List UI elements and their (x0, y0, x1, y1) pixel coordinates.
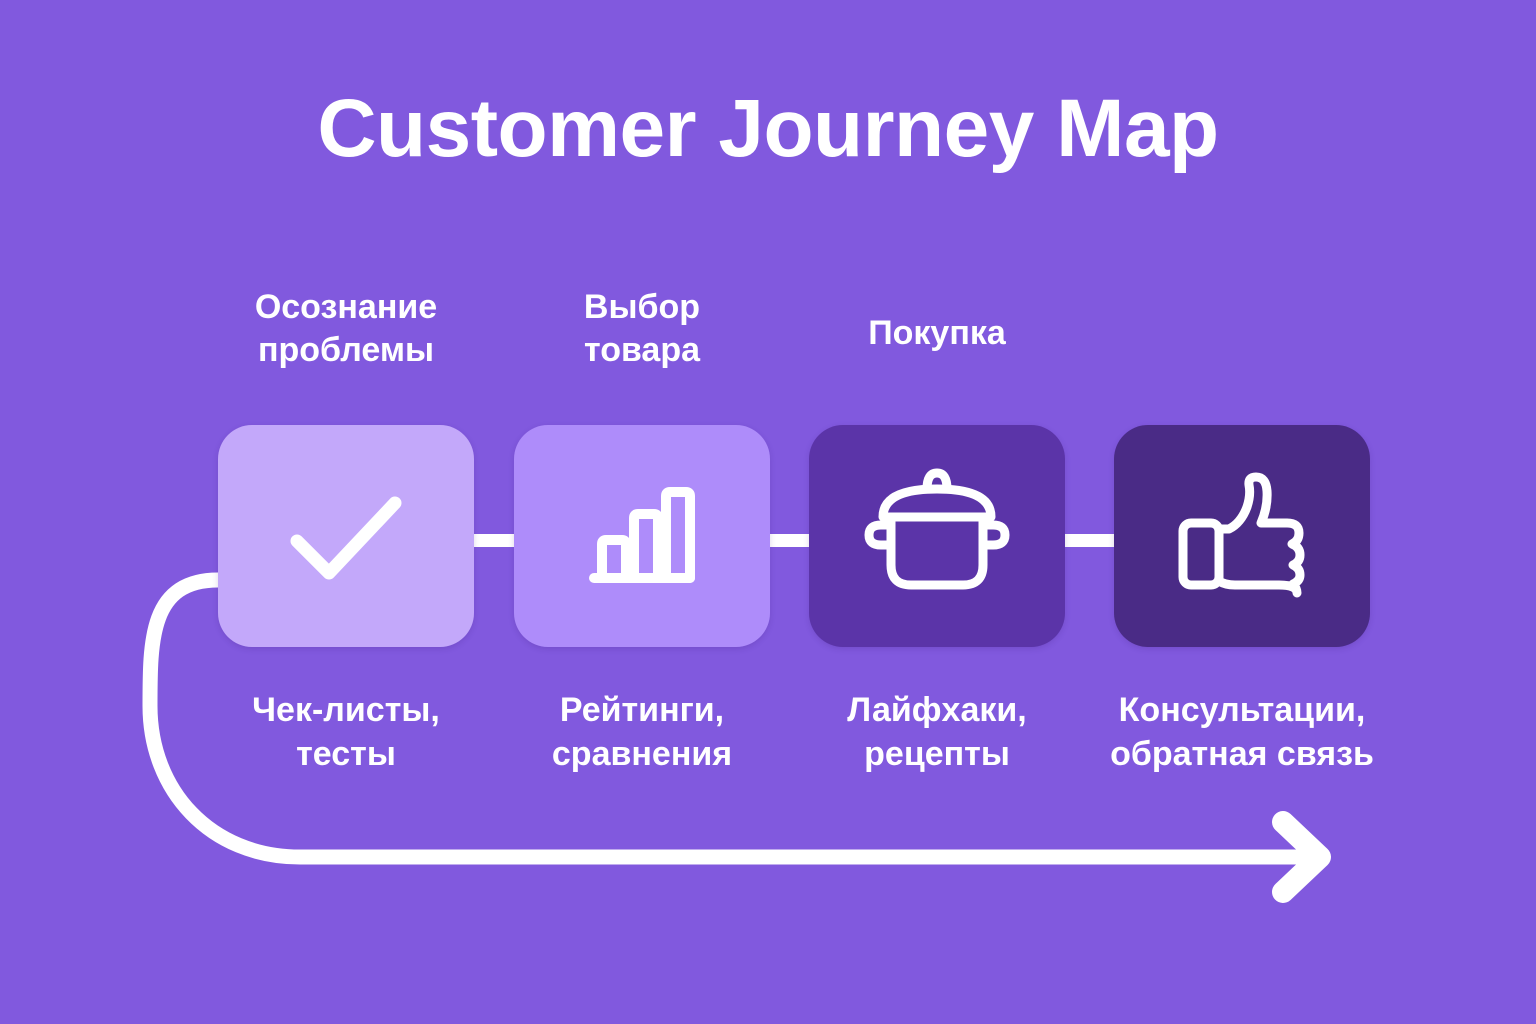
stage-top-label-2: Выбор товара (482, 286, 802, 371)
stage-top-label-3: Покупка (777, 312, 1097, 355)
stage-card-1[interactable] (218, 425, 474, 647)
bar-chart-icon (572, 466, 712, 606)
flow-arrowhead-icon (1283, 822, 1320, 892)
page-title: Customer Journey Map (0, 88, 1536, 170)
checkmark-icon (271, 461, 421, 611)
stage-card-3[interactable] (809, 425, 1065, 647)
stage-card-4[interactable] (1114, 425, 1370, 647)
stage-card-2[interactable] (514, 425, 770, 647)
thumbs-up-icon (1167, 461, 1317, 611)
stage-top-label-1: Осознание проблемы (186, 286, 506, 371)
stage-bottom-label-3: Лайфхаки, рецепты (777, 688, 1097, 776)
stage-bottom-label-2: Рейтинги, сравнения (482, 688, 802, 776)
cooking-pot-icon (857, 461, 1017, 611)
stage-bottom-label-4: Консультации, обратная связь (1062, 688, 1422, 776)
stage-bottom-label-1: Чек-листы, тесты (186, 688, 506, 776)
